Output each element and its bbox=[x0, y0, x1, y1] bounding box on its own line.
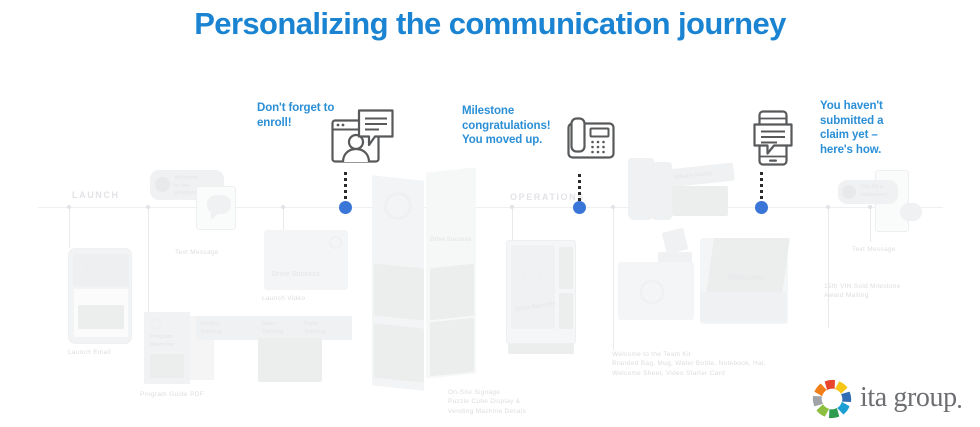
vending-machine: Drive Success bbox=[506, 240, 576, 344]
vending-glass bbox=[511, 245, 555, 329]
ghost-welcome-box: Welcome! bbox=[728, 272, 766, 283]
program-guide-page-2 bbox=[190, 316, 214, 380]
stem-dot-text-message-2 bbox=[868, 205, 872, 209]
anchor-dot-enroll bbox=[339, 201, 352, 214]
vending-machine-base bbox=[508, 344, 574, 354]
cube-base-left bbox=[374, 323, 424, 382]
ghost-message-welcome: Welcome to the program! bbox=[174, 175, 198, 198]
stem-dot-vin-award bbox=[826, 205, 830, 209]
training-material-spread bbox=[258, 338, 322, 382]
stem-program-guide bbox=[148, 208, 149, 312]
stem-dot-program-guide bbox=[146, 205, 150, 209]
brochure-photo bbox=[150, 354, 184, 378]
logo-registered-dot bbox=[958, 405, 961, 408]
on-site-signage-cube: Drive Success bbox=[372, 170, 478, 395]
faded-journey-background: LAUNCH Launch Email Welcome to the progr… bbox=[0, 0, 980, 427]
callout-text-claim: You haven't submitted a claim yet – here… bbox=[820, 99, 932, 157]
cube-photo-wheel bbox=[430, 264, 474, 321]
tablet-body bbox=[73, 288, 129, 338]
ghost-whats-inside: What's Inside bbox=[674, 170, 713, 182]
phase-label-operations: OPERATIONS bbox=[510, 192, 585, 202]
browser-chat-person-icon bbox=[331, 108, 395, 169]
welcome-kit-open-box: Welcome! bbox=[700, 238, 788, 324]
vending-dispenser bbox=[559, 293, 573, 329]
stem-dot-launch-email bbox=[67, 205, 71, 209]
text-message-1-bubble: Welcome to the program! bbox=[150, 170, 224, 200]
thumbs-up-bubble-2 bbox=[900, 203, 922, 221]
bubble-tail bbox=[211, 213, 219, 220]
ghost-parts-training: Parts Training bbox=[304, 321, 325, 336]
box-base bbox=[700, 292, 786, 322]
c-logo-mark bbox=[80, 259, 95, 274]
cube-panel-left bbox=[372, 175, 424, 390]
ghost-program-overview: Program Overview bbox=[150, 334, 174, 349]
ghost-drive-success: Drive Success bbox=[272, 270, 320, 280]
journey-label-program-guide: Program Guide PDF bbox=[140, 390, 204, 399]
launch-email-tablet bbox=[68, 248, 132, 344]
connector-line-enroll bbox=[344, 172, 347, 203]
smartphone-message-icon bbox=[752, 110, 794, 171]
connector-line-claim bbox=[760, 172, 763, 203]
callout-text-milestone: Milestone congratulations! You moved up. bbox=[462, 104, 568, 148]
ghost-drive-success-banner: Drive Success bbox=[430, 236, 471, 244]
stem-dot-launch-video bbox=[281, 205, 285, 209]
journey-label-vin-award: 15th VIN Sold Milestone Award Mailing bbox=[824, 282, 901, 301]
training-card-service: Service Training bbox=[196, 316, 260, 340]
c-logo-mark bbox=[640, 280, 664, 304]
box-lid bbox=[706, 238, 790, 294]
ghost-drive-success-vending: Drive Success bbox=[515, 300, 557, 315]
ghost-message-milestone: You hit a milestone! bbox=[860, 184, 888, 199]
stem-welcome-kit bbox=[613, 208, 614, 350]
journey-label-on-site-signage: On-Site Signage Puzzle Cube Display & Ve… bbox=[448, 388, 526, 416]
stem-vending bbox=[512, 208, 513, 240]
welcome-kit-card-badge bbox=[658, 252, 692, 266]
connector-line-milestone bbox=[578, 174, 581, 203]
avatar bbox=[155, 177, 170, 192]
cube-base-right bbox=[430, 318, 474, 377]
anchor-dot-milestone bbox=[573, 201, 586, 214]
stem-dot-welcome-kit bbox=[611, 205, 615, 209]
infographic-canvas: Personalizing the communication journey … bbox=[0, 0, 980, 427]
ghost-service-training: Service Training bbox=[200, 321, 221, 336]
text-message-2-phone bbox=[875, 170, 909, 232]
stem-dot-vending bbox=[510, 205, 514, 209]
phase-label-launch: LAUNCH bbox=[72, 190, 120, 200]
page-title: Personalizing the communication journey bbox=[0, 6, 980, 42]
c-logo-mark bbox=[384, 192, 412, 220]
journey-label-text-message-1: Text Message bbox=[175, 248, 219, 257]
journey-label-launch-email: Launch Email bbox=[68, 348, 111, 357]
stem-launch-video bbox=[283, 208, 284, 230]
journey-baseline bbox=[38, 207, 943, 208]
avatar bbox=[842, 185, 856, 199]
stem-text-message-2 bbox=[870, 208, 871, 242]
ita-group-logo: ita group bbox=[812, 379, 972, 421]
launch-video-thumbnail: Drive Success bbox=[264, 230, 348, 290]
program-guide-cover: Program Overview bbox=[144, 312, 190, 384]
journey-label-text-message-2: Text Message bbox=[852, 245, 896, 254]
welcome-kit-hat bbox=[662, 228, 689, 255]
c-logo-mark bbox=[523, 267, 541, 285]
welcome-kit-sheet bbox=[672, 186, 728, 216]
c-logo-mark bbox=[633, 174, 647, 188]
tablet-photo bbox=[78, 305, 124, 329]
logo-wordmark: ita group bbox=[860, 382, 957, 414]
text-message-2-bubble: You hit a milestone! bbox=[838, 180, 898, 204]
training-card-parts: Parts Training bbox=[300, 316, 352, 340]
desk-phone-icon bbox=[567, 117, 615, 164]
stem-vin-award bbox=[828, 208, 829, 328]
ita-group-octagon-mark bbox=[812, 379, 852, 419]
tablet-hero-image bbox=[73, 254, 129, 286]
stem-launch-email bbox=[69, 208, 70, 248]
c-logo-mark bbox=[150, 318, 162, 330]
c-logo-mark bbox=[329, 236, 342, 249]
cube-panel-right bbox=[426, 167, 476, 378]
journey-label-launch-video: Launch Video bbox=[262, 294, 305, 303]
welcome-kit-bottle bbox=[652, 162, 672, 220]
training-card-sales: Sales Training bbox=[258, 316, 322, 340]
thumbs-up-bubble bbox=[207, 195, 231, 214]
c-logo-mark bbox=[662, 253, 673, 264]
text-message-1-phone bbox=[196, 186, 236, 230]
cube-photo-vehicle bbox=[374, 263, 424, 320]
vending-control-panel bbox=[559, 247, 573, 289]
journey-label-welcome-kit: Welcome to the Team Kit Branded Bag, Mug… bbox=[612, 350, 766, 378]
welcome-kit-closed-box bbox=[618, 262, 694, 320]
welcome-kit-tumbler bbox=[628, 158, 654, 220]
whats-inside-card: What's Inside bbox=[667, 163, 735, 188]
anchor-dot-claim bbox=[755, 201, 768, 214]
ghost-sales-training: Sales Training bbox=[262, 321, 283, 336]
